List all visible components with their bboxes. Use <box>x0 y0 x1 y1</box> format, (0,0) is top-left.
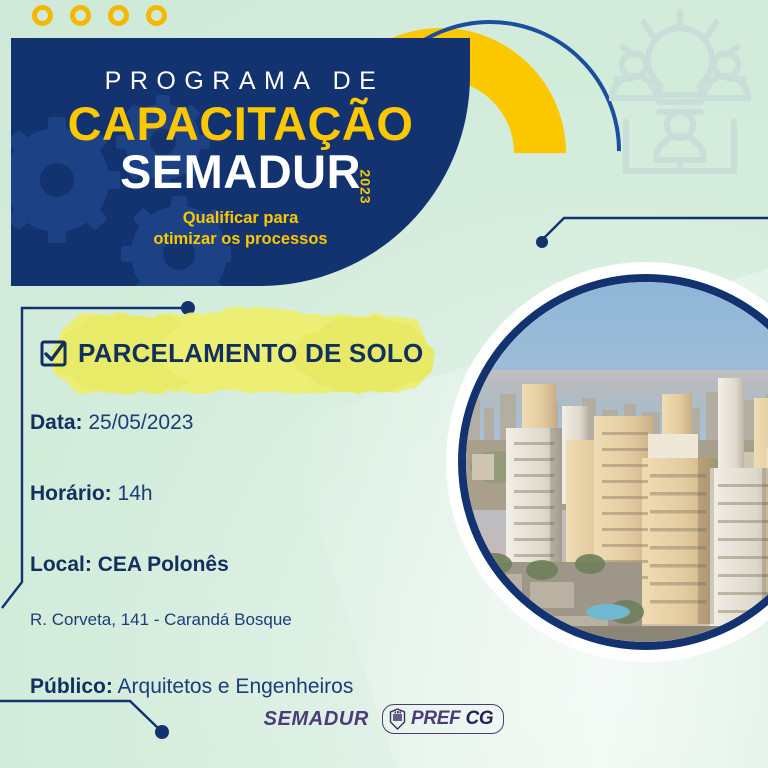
detail-row-horario: Horário: 14h <box>30 483 450 504</box>
cityscape-photo <box>466 282 768 642</box>
detail-value-local: CEA Polonês <box>98 553 229 576</box>
course-heading: PARCELAMENTO DE SOLO <box>40 338 423 369</box>
ring-decoration-row <box>32 5 167 26</box>
program-org-wrap: SEMADUR 2023 <box>120 147 361 197</box>
footer-logos: SEMADUR PREFCG <box>0 704 768 734</box>
prefcg-text-pref: PREF <box>411 708 460 730</box>
connector-line-top-right <box>536 212 768 252</box>
course-title: PARCELAMENTO DE SOLO <box>78 338 423 369</box>
details-list: Data: 25/05/2023 Horário: 14h Local: CEA… <box>30 412 450 697</box>
poster-canvas: PROGRAMA DE CAPACITAÇÃO SEMADUR 2023 Qua… <box>0 0 768 768</box>
detail-value-horario: 14h <box>118 482 153 505</box>
detail-label-local: Local: <box>30 553 92 576</box>
program-subtitle-line1: Qualificar para <box>11 208 470 230</box>
detail-value-publico: Arquitetos e Engenheiros <box>118 675 354 698</box>
footer-semadur-logo: SEMADUR <box>264 708 369 731</box>
detail-row-publico: Público: Arquitetos e Engenheiros <box>30 676 450 697</box>
header-panel: PROGRAMA DE CAPACITAÇÃO SEMADUR 2023 Qua… <box>11 38 470 286</box>
detail-value-data: 25/05/2023 <box>88 411 193 434</box>
detail-row-local: Local: CEA Polonês <box>30 554 450 575</box>
detail-value-endereco: R. Corveta, 141 - Carandá Bosque <box>30 610 292 629</box>
program-org: SEMADUR <box>120 145 361 198</box>
circle-outline-icon <box>70 5 91 26</box>
checkbox-checked-icon <box>40 340 67 367</box>
prefcg-text-cg: CG <box>465 708 493 730</box>
program-subtitle-line2: otimizar os processos <box>11 229 470 251</box>
detail-label-horario: Horário: <box>30 482 112 505</box>
circle-outline-icon <box>108 5 129 26</box>
detail-label-data: Data: <box>30 411 83 434</box>
lightbulb-teamwork-icon <box>596 6 764 206</box>
program-title: CAPACITAÇÃO <box>11 99 470 149</box>
circle-outline-icon <box>146 5 167 26</box>
detail-label-publico: Público: <box>30 675 113 698</box>
prefcg-logo: PREFCG <box>382 704 504 734</box>
program-eyebrow: PROGRAMA DE <box>19 69 470 94</box>
detail-row-endereco: R. Corveta, 141 - Carandá Bosque <box>30 611 450 628</box>
program-subtitle: Qualificar para otimizar os processos <box>11 208 470 252</box>
program-year: 2023 <box>357 169 373 204</box>
city-crest-icon <box>389 708 406 730</box>
detail-row-data: Data: 25/05/2023 <box>30 412 450 433</box>
circle-outline-icon <box>32 5 53 26</box>
